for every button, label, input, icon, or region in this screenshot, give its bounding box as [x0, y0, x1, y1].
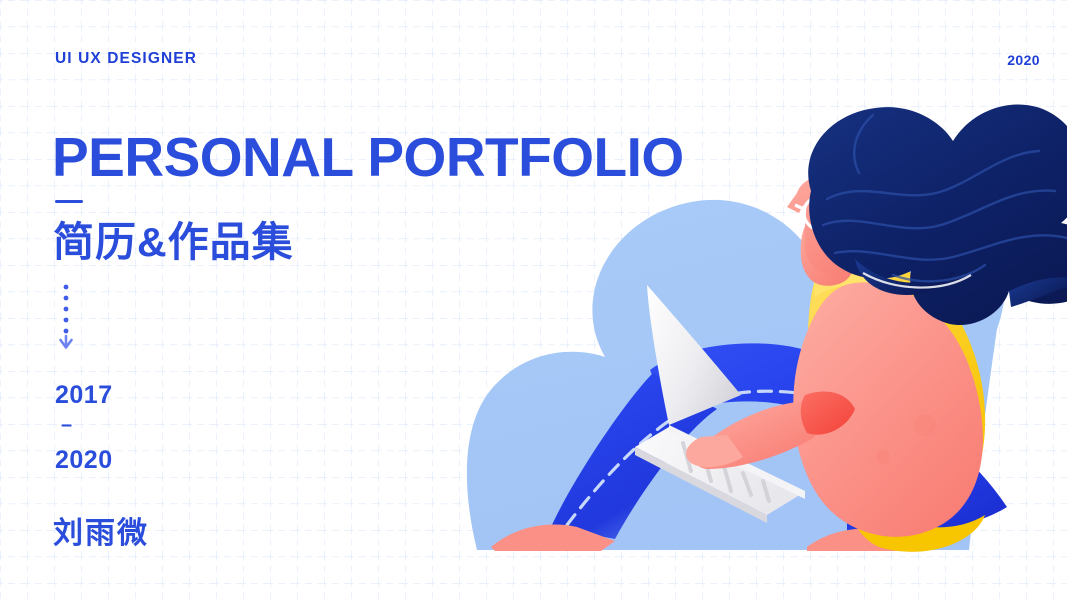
- page-title: PERSONAL PORTFOLIO: [52, 126, 684, 188]
- date-range-end: 2020: [55, 446, 113, 475]
- left-text-column: UI UX DESIGNER PERSONAL PORTFOLIO 简历&作品集…: [0, 0, 470, 600]
- eyebrow-label: UI UX DESIGNER: [55, 50, 197, 68]
- date-range-separator: –: [61, 414, 73, 437]
- title-divider: [55, 200, 83, 203]
- year-label: 2020: [1007, 52, 1040, 68]
- author-name: 刘雨微: [53, 508, 149, 552]
- dotted-down-arrow-icon: [56, 284, 76, 350]
- portfolio-cover-slide: UI UX DESIGNER PERSONAL PORTFOLIO 简历&作品集…: [0, 0, 1067, 600]
- subtitle-chinese: 简历&作品集: [53, 216, 294, 268]
- date-range-start: 2017: [55, 381, 113, 410]
